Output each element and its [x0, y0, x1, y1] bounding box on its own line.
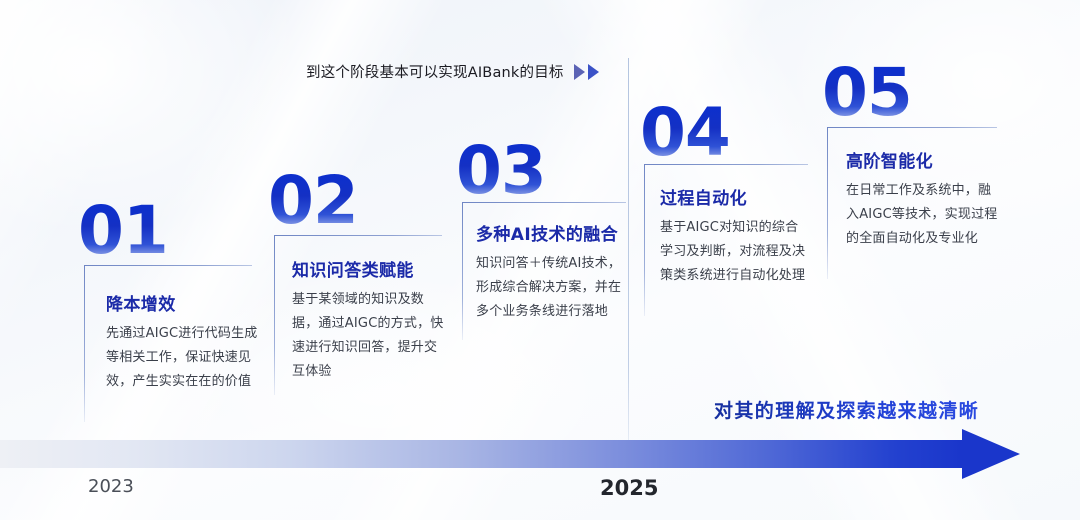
step-title: 过程自动化: [660, 184, 747, 209]
step-number: 04: [640, 102, 730, 164]
step-body: 在日常工作及系统中，融入AIGC等技术，实现过程的全面自动化及专业化: [846, 179, 1004, 251]
tagline-text: 对其的理解及探索越来越清晰: [714, 396, 979, 423]
step-title: 多种AI技术的融合: [476, 220, 618, 245]
timeline-bar: [0, 440, 962, 468]
timeline-label-start: 2023: [88, 476, 134, 497]
step-title: 高阶智能化: [846, 147, 933, 172]
step-number: 02: [268, 170, 358, 232]
step-body: 知识问答＋传统AI技术，形成综合解决方案，并在多个业务条线进行落地: [476, 252, 628, 324]
arrow-right-icon: [962, 429, 1020, 479]
phase-divider-line: [628, 58, 629, 442]
annotation-arrows: [574, 64, 599, 80]
step-title: 知识问答类赋能: [292, 256, 414, 281]
step-body: 先通过AIGC进行代码生成等相关工作，保证快速见效，产生实实在在的价值: [106, 322, 258, 394]
step-body: 基于AIGC对知识的综合学习及判断，对流程及决策类系统进行自动化处理: [660, 216, 810, 288]
timeline-label-end: 2025: [600, 476, 658, 500]
triangle-right-icon: [588, 64, 599, 80]
timeline: 2023 2025: [0, 440, 1080, 480]
step-number: 01: [78, 200, 168, 262]
step-title: 降本增效: [106, 290, 176, 315]
annotation-text: 到这个阶段基本可以实现AIBank的目标: [306, 61, 564, 82]
step-number: 03: [456, 140, 546, 202]
annotation-banner: 到这个阶段基本可以实现AIBank的目标: [306, 61, 599, 82]
step-body: 基于某领域的知识及数据，通过AIGC的方式，快速进行知识回答，提升交互体验: [292, 288, 448, 384]
triangle-right-icon: [574, 64, 585, 80]
slide-canvas: 到这个阶段基本可以实现AIBank的目标 01 降本增效 先通过AIGC进行代码…: [0, 0, 1080, 520]
step-number: 05: [822, 62, 912, 124]
